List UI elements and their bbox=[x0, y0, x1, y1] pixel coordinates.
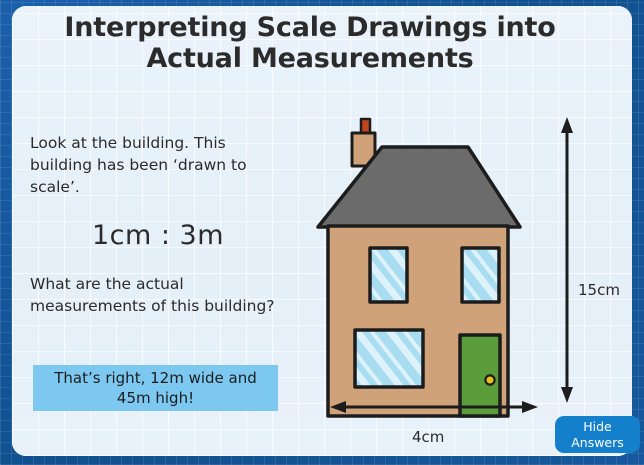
window-lower-left-icon bbox=[355, 330, 423, 387]
scale-drawing-figure bbox=[300, 100, 600, 450]
answer-text: That’s right, 12m wide and 45m high! bbox=[39, 368, 272, 409]
scale-ratio-text: 1cm : 3m bbox=[30, 220, 286, 251]
width-dimension-label: 4cm bbox=[412, 428, 444, 446]
door-icon bbox=[460, 335, 500, 416]
window-upper-right-icon bbox=[462, 248, 499, 302]
intro-text: Look at the building. This building has … bbox=[30, 132, 282, 198]
door-knob-icon bbox=[485, 375, 494, 384]
roof-icon bbox=[318, 147, 520, 227]
question-text: What are the actual measurements of this… bbox=[30, 273, 292, 317]
height-dimension-arrow bbox=[561, 117, 573, 403]
window-upper-left-icon bbox=[370, 248, 407, 302]
answer-box: That’s right, 12m wide and 45m high! bbox=[33, 365, 278, 411]
page-title: Interpreting Scale Drawings into Actual … bbox=[0, 12, 620, 75]
height-dimension-label: 15cm bbox=[578, 281, 620, 299]
page-title-line-1: Interpreting Scale Drawings into bbox=[0, 12, 620, 43]
page-title-line-2: Actual Measurements bbox=[0, 43, 620, 74]
